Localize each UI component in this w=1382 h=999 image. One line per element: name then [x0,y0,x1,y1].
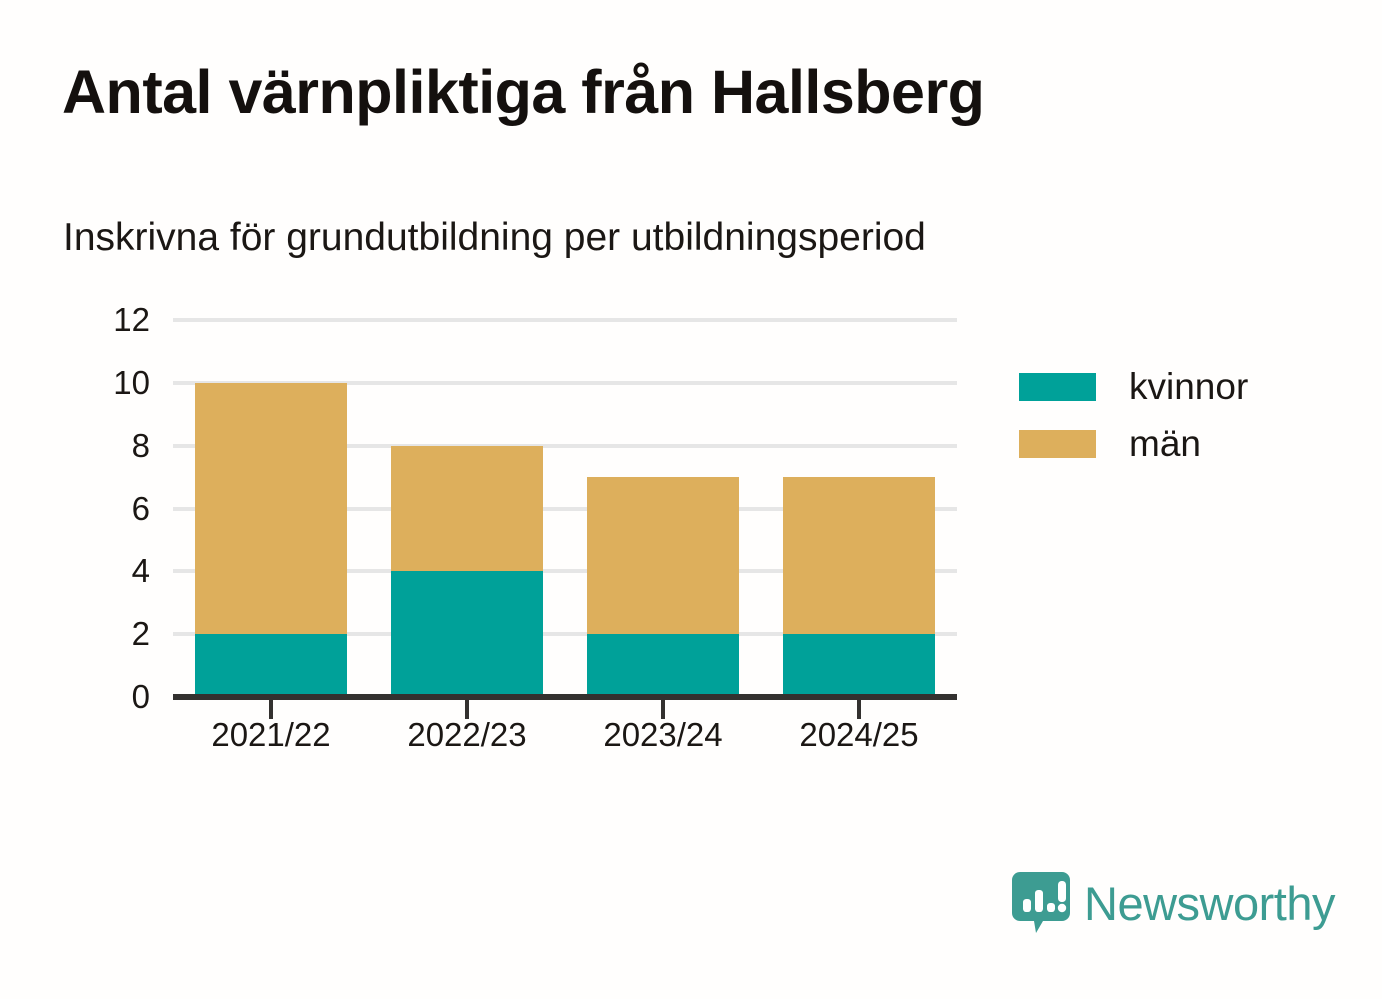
bar-segment-män[interactable] [391,446,543,572]
legend-swatch-icon [1019,373,1096,401]
newsworthy-logo[interactable]: Newsworthy [1012,872,1335,934]
bar-segment-män[interactable] [587,477,739,634]
y-axis-tick-label: 6 [60,492,150,525]
x-axis-tick-label: 2021/22 [161,718,381,751]
chart-legend: kvinnormän [1019,358,1248,472]
plot-area [173,320,957,697]
bar-segment-män[interactable] [195,383,347,634]
stacked-bar-chart: 024681012 2021/222022/232023/242024/25 [0,0,1382,999]
bar-segment-kvinnor[interactable] [195,634,347,697]
chart-page: Antal värnpliktiga från Hallsberg Inskri… [0,0,1382,999]
bar-segment-kvinnor[interactable] [391,571,543,697]
bar-group[interactable] [195,320,347,697]
speech-bubble-bar-chart-icon [1012,872,1070,934]
newsworthy-wordmark: Newsworthy [1084,880,1335,927]
bar-group[interactable] [391,320,543,697]
bar-group[interactable] [587,320,739,697]
y-axis-tick-label: 8 [60,429,150,462]
bar-segment-kvinnor[interactable] [587,634,739,697]
y-axis-tick-label: 2 [60,617,150,650]
y-axis-tick-label: 0 [60,680,150,713]
bar-segment-kvinnor[interactable] [783,634,935,697]
legend-label: män [1129,425,1201,462]
x-axis-tick-label: 2023/24 [553,718,773,751]
y-axis-tick-label: 10 [60,366,150,399]
bar-segment-män[interactable] [783,477,935,634]
legend-label: kvinnor [1129,368,1248,405]
y-axis-tick-label: 4 [60,554,150,587]
x-axis-tick-label: 2024/25 [749,718,969,751]
bar-group[interactable] [783,320,935,697]
y-axis-tick-label: 12 [60,303,150,336]
x-axis-tick-label: 2022/23 [357,718,577,751]
legend-item-kvinnor[interactable]: kvinnor [1019,358,1248,415]
legend-item-män[interactable]: män [1019,415,1248,472]
legend-swatch-icon [1019,430,1096,458]
x-axis-line [173,694,957,700]
